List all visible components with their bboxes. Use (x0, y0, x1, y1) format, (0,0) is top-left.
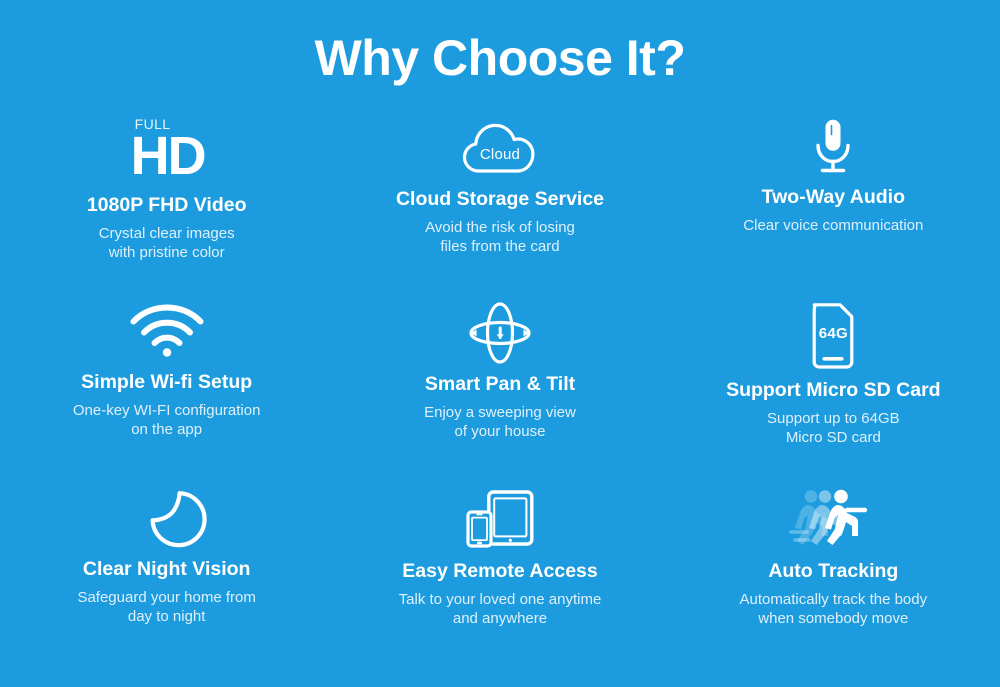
feature-description: Talk to your loved one anytimeand anywhe… (399, 590, 602, 628)
feature-card-1080p-fhd-video: FULL HD 1080P FHD Video Crystal clear im… (0, 110, 333, 295)
feature-title: 1080P FHD Video (87, 194, 247, 217)
cloud-icon-label: Cloud (462, 146, 538, 163)
feature-description: Crystal clear imageswith pristine color (99, 224, 235, 262)
sd-card-icon-label: 64G (809, 325, 857, 342)
microphone-icon (810, 118, 856, 176)
feature-title: Auto Tracking (768, 560, 898, 583)
feature-title: Two-Way Audio (762, 186, 905, 209)
sd-card-icon: 64G (809, 303, 857, 369)
feature-description: Automatically track the bodywhen somebod… (740, 590, 928, 628)
page-title: Why Choose It? (0, 0, 1000, 88)
icon-container (810, 110, 856, 184)
feature-description: One-key WI-FI configurationon the app (73, 401, 261, 439)
feature-description: Enjoy a sweeping viewof your house (424, 403, 576, 441)
feature-card-easy-remote-access: Easy Remote Access Talk to your loved on… (333, 480, 666, 665)
feature-title: Support Micro SD Card (726, 379, 941, 402)
crescent-moon-icon (138, 489, 196, 547)
feature-card-simple-wifi-setup: Simple Wi-fi Setup One-key WI-FI configu… (0, 295, 333, 480)
feature-description: Safeguard your home fromday to night (77, 588, 255, 626)
feature-card-two-way-audio: Two-Way Audio Clear voice communication (667, 110, 1000, 295)
feature-title: Cloud Storage Service (396, 188, 604, 211)
feature-description: Support up to 64GBMicro SD card (767, 409, 900, 447)
full-hd-icon-label-large: HD (131, 129, 205, 183)
icon-container: Cloud (462, 110, 538, 186)
why-choose-it-infographic: { "page": { "title": "Why Choose It?", "… (0, 0, 1000, 687)
feature-title: Clear Night Vision (83, 558, 251, 581)
icon-container (463, 295, 537, 371)
feature-description: Clear voice communication (743, 216, 923, 235)
feature-card-auto-tracking: Auto Tracking Automatically track the bo… (667, 480, 1000, 665)
feature-title: Simple Wi-fi Setup (81, 371, 252, 394)
running-person-motion-icon (791, 488, 875, 550)
icon-container (466, 480, 534, 558)
icon-container: 64G (809, 295, 857, 377)
feature-card-support-micro-sd-card: 64G Support Micro SD Card Support up to … (667, 295, 1000, 480)
feature-description: Avoid the risk of losingfiles from the c… (425, 218, 575, 256)
feature-title: Smart Pan & Tilt (425, 373, 575, 396)
wifi-icon (130, 307, 204, 357)
feature-title: Easy Remote Access (402, 560, 597, 583)
pan-tilt-rotation-icon (463, 302, 537, 364)
full-hd-icon: FULL HD (131, 117, 203, 183)
icon-container: FULL HD (131, 110, 203, 190)
cloud-icon: Cloud (462, 120, 538, 176)
phone-tablet-icon (466, 490, 534, 548)
feature-card-smart-pan-tilt: Smart Pan & Tilt Enjoy a sweeping viewof… (333, 295, 666, 480)
icon-container (138, 480, 196, 556)
features-grid: FULL HD 1080P FHD Video Crystal clear im… (0, 110, 1000, 665)
feature-card-cloud-storage-service: Cloud Cloud Storage Service Avoid the ri… (333, 110, 666, 295)
feature-card-clear-night-vision: Clear Night Vision Safeguard your home f… (0, 480, 333, 665)
icon-container (791, 480, 875, 558)
icon-container (130, 295, 204, 369)
